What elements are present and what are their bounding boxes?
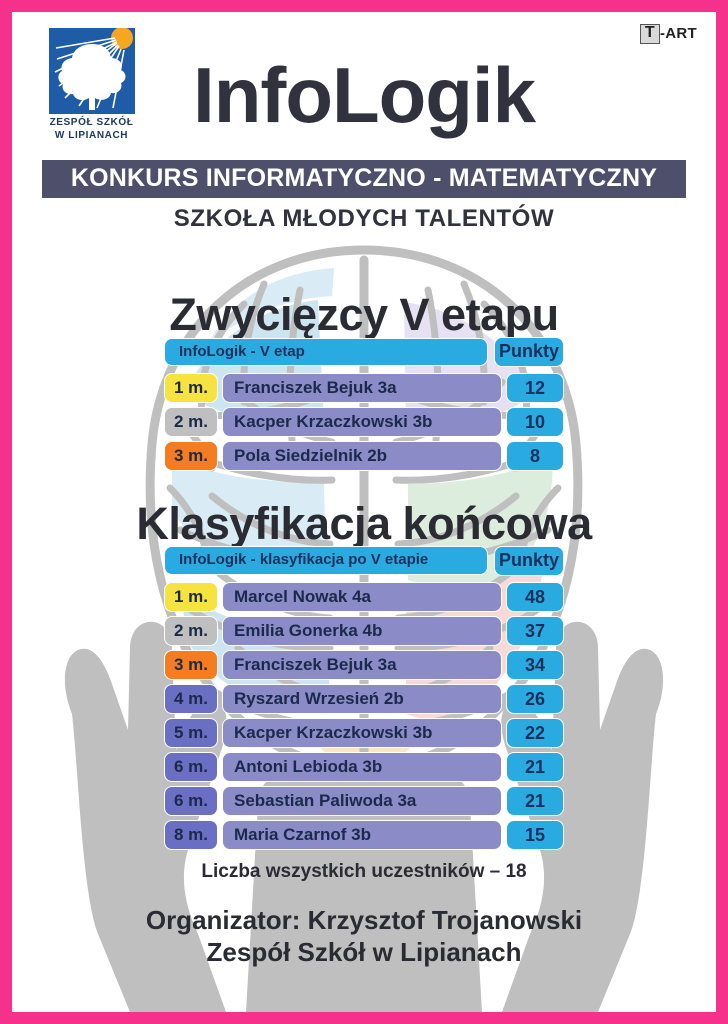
participant-name: Kacper Krzaczkowski 3b bbox=[222, 718, 502, 748]
score-chip: 22 bbox=[506, 718, 564, 748]
participant-name: Sebastian Paliwoda 3a bbox=[222, 786, 502, 816]
rank-badge: 2 m. bbox=[164, 407, 218, 437]
score-chip: 21 bbox=[506, 752, 564, 782]
score-chip: 10 bbox=[506, 407, 564, 437]
table-row: 1 m.Marcel Nowak 4a48 bbox=[164, 582, 564, 612]
rank-badge: 1 m. bbox=[164, 373, 218, 403]
score-chip: 37 bbox=[506, 616, 564, 646]
table-body: 1 m.Franciszek Bejuk 3a122 m.Kacper Krza… bbox=[164, 373, 564, 471]
participant-name: Maria Czarnof 3b bbox=[222, 820, 502, 850]
participants-note: Liczba wszystkich uczestników – 18 bbox=[12, 861, 716, 883]
table-row: 8 m.Maria Czarnof 3b15 bbox=[164, 820, 564, 850]
table-points-label: Punkty bbox=[494, 546, 564, 576]
rank-badge: 3 m. bbox=[164, 441, 218, 471]
results-table-final: InfoLogik - klasyfikacja po V etapie Pun… bbox=[164, 546, 564, 850]
table-row: 6 m.Sebastian Paliwoda 3a21 bbox=[164, 786, 564, 816]
table-row: 2 m.Kacper Krzaczkowski 3b10 bbox=[164, 407, 564, 437]
participant-name: Kacper Krzaczkowski 3b bbox=[222, 407, 502, 437]
participant-name: Marcel Nowak 4a bbox=[222, 582, 502, 612]
table-row: 3 m.Franciszek Bejuk 3a34 bbox=[164, 650, 564, 680]
score-chip: 12 bbox=[506, 373, 564, 403]
rank-badge: 6 m. bbox=[164, 786, 218, 816]
participant-name: Ryszard Wrzesień 2b bbox=[222, 684, 502, 714]
rank-badge: 4 m. bbox=[164, 684, 218, 714]
table-title: InfoLogik - klasyfikacja po V etapie bbox=[164, 546, 488, 575]
footer-organizer: Organizator: Krzysztof Trojanowski bbox=[12, 905, 716, 937]
poster: ZESPÓŁ SZKÓŁ W LIPIANACH T -ART InfoLogi… bbox=[0, 0, 728, 1024]
brand-badge: T -ART bbox=[640, 24, 697, 44]
rank-badge: 2 m. bbox=[164, 616, 218, 646]
participant-name: Franciszek Bejuk 3a bbox=[222, 650, 502, 680]
table-row: 1 m.Franciszek Bejuk 3a12 bbox=[164, 373, 564, 403]
rank-badge: 5 m. bbox=[164, 718, 218, 748]
footer: Organizator: Krzysztof Trojanowski Zespó… bbox=[12, 905, 716, 968]
table-header-row: InfoLogik - klasyfikacja po V etapie Pun… bbox=[164, 546, 564, 576]
section-stage-winners: Zwycięzcy V etapu InfoLogik - V etap Pun… bbox=[12, 292, 716, 471]
score-chip: 26 bbox=[506, 684, 564, 714]
subtitle-secondary: SZKOŁA MŁODYCH TALENTÓW bbox=[12, 205, 716, 233]
brand-badge-suffix: -ART bbox=[660, 25, 697, 42]
rank-badge: 8 m. bbox=[164, 820, 218, 850]
rank-badge: 3 m. bbox=[164, 650, 218, 680]
participant-name: Franciszek Bejuk 3a bbox=[222, 373, 502, 403]
section-final-classification: Klasyfikacja końcowa InfoLogik - klasyfi… bbox=[12, 501, 716, 850]
participant-name: Emilia Gonerka 4b bbox=[222, 616, 502, 646]
participant-name: Pola Siedzielnik 2b bbox=[222, 441, 502, 471]
table-row: 3 m.Pola Siedzielnik 2b8 bbox=[164, 441, 564, 471]
page-title: InfoLogik bbox=[12, 56, 716, 134]
section-heading: Klasyfikacja końcowa bbox=[12, 501, 716, 546]
table-points-label: Punkty bbox=[494, 337, 564, 367]
results-table-stage: InfoLogik - V etap Punkty 1 m.Franciszek… bbox=[164, 337, 564, 471]
score-chip: 15 bbox=[506, 820, 564, 850]
score-chip: 34 bbox=[506, 650, 564, 680]
poster-header: ZESPÓŁ SZKÓŁ W LIPIANACH T -ART InfoLogi… bbox=[12, 12, 716, 244]
table-title: InfoLogik - V etap bbox=[164, 338, 488, 367]
section-heading: Zwycięzcy V etapu bbox=[12, 292, 716, 337]
rank-badge: 6 m. bbox=[164, 752, 218, 782]
table-body: 1 m.Marcel Nowak 4a482 m.Emilia Gonerka … bbox=[164, 582, 564, 850]
table-header-row: InfoLogik - V etap Punkty bbox=[164, 337, 564, 367]
rank-badge: 1 m. bbox=[164, 582, 218, 612]
brand-badge-letter: T bbox=[640, 24, 660, 44]
participant-name: Antoni Lebioda 3b bbox=[222, 752, 502, 782]
score-chip: 48 bbox=[506, 582, 564, 612]
table-row: 4 m.Ryszard Wrzesień 2b26 bbox=[164, 684, 564, 714]
table-row: 6 m.Antoni Lebioda 3b21 bbox=[164, 752, 564, 782]
table-row: 5 m.Kacper Krzaczkowski 3b22 bbox=[164, 718, 564, 748]
table-row: 2 m.Emilia Gonerka 4b37 bbox=[164, 616, 564, 646]
score-chip: 8 bbox=[506, 441, 564, 471]
score-chip: 21 bbox=[506, 786, 564, 816]
footer-school: Zespół Szkół w Lipianach bbox=[12, 937, 716, 969]
subtitle-bar: KONKURS INFORMATYCZNO - MATEMATYCZNY bbox=[42, 160, 686, 198]
